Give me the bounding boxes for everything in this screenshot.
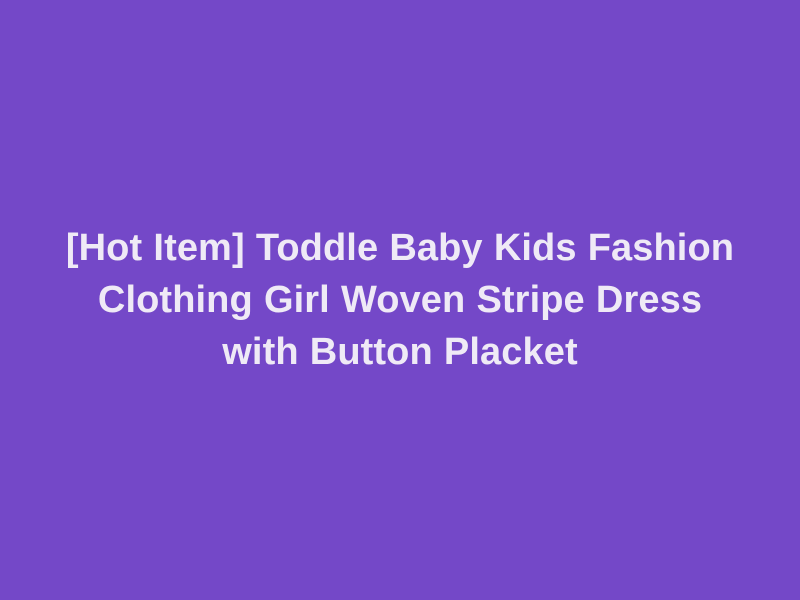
page-title: [Hot Item] Toddle Baby Kids Fashion Clot…: [55, 222, 745, 378]
placeholder-card: [Hot Item] Toddle Baby Kids Fashion Clot…: [0, 0, 800, 600]
